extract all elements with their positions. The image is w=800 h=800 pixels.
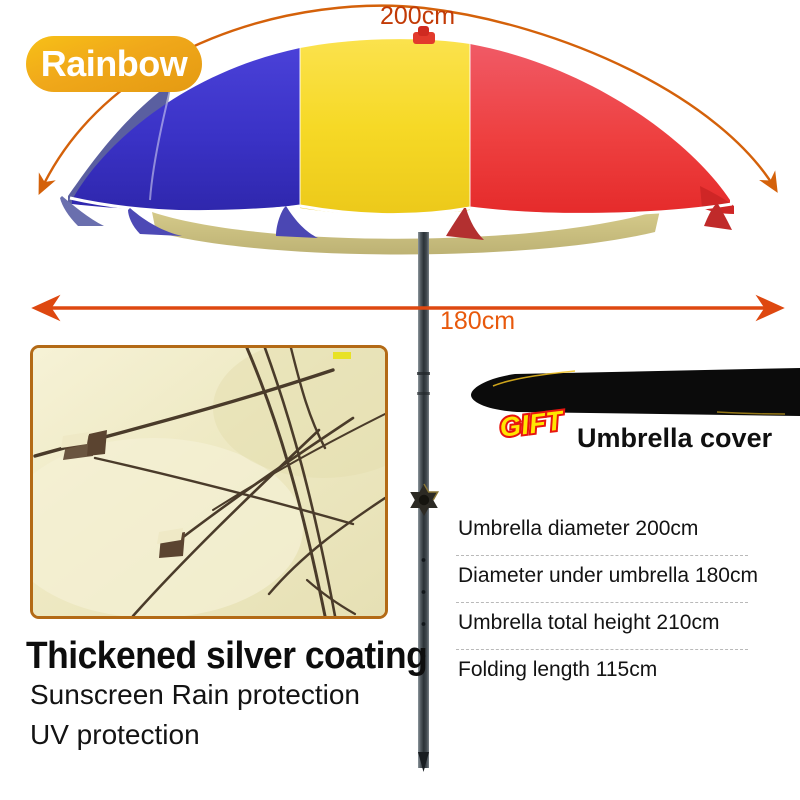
feature-uv-protection: UV protection (30, 721, 200, 749)
spec-separator (456, 602, 748, 603)
pole-tightening-knob (410, 484, 438, 516)
canopy-panel-yellow (300, 39, 470, 215)
spec-label: Umbrella total height 210cm (458, 612, 719, 633)
canopy-diameter-label: 200cm (380, 4, 455, 29)
silver-coating-photo (30, 345, 388, 619)
canopy-underside (152, 210, 660, 255)
feature-sunscreen-rain: Sunscreen Rain protection (30, 681, 360, 709)
spec-label: Folding length 115cm (458, 659, 657, 680)
spec-separator (456, 555, 748, 556)
umbrella-underside-art (33, 348, 385, 616)
spec-label: Diameter under umbrella 180cm (458, 565, 758, 586)
spec-row: Umbrella total height 210cm (456, 606, 756, 653)
pole-joint-mid (417, 392, 430, 395)
pole-joint-upper (417, 372, 430, 375)
brand-badge: Rainbow (26, 36, 202, 92)
coating-headline: Thickened silver coating (26, 637, 427, 675)
spec-label: Umbrella diameter 200cm (458, 518, 698, 539)
spec-separator (456, 649, 748, 650)
umbrella-cover-caption: Umbrella cover (577, 425, 772, 452)
spec-row: Diameter under umbrella 180cm (456, 559, 756, 606)
product-infographic: Rainbow 200cm 180cm (0, 0, 800, 800)
specification-list: Umbrella diameter 200cm Diameter under u… (456, 512, 756, 700)
under-diameter-label: 180cm (440, 309, 515, 334)
canopy-panel-red (470, 44, 730, 213)
spec-row: Umbrella diameter 200cm (456, 512, 756, 559)
brand-badge-label: Rainbow (41, 46, 188, 82)
spec-row: Folding length 115cm (456, 653, 756, 700)
